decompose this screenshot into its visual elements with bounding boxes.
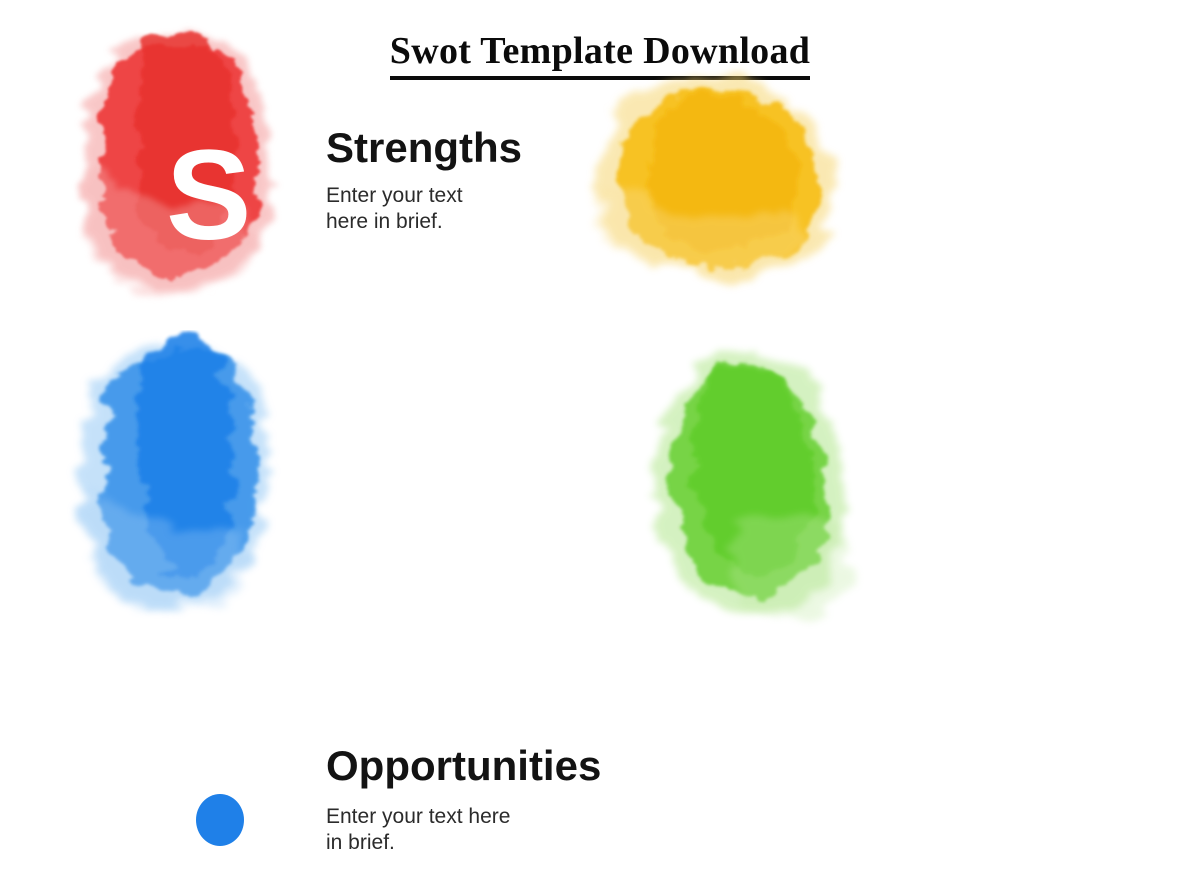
blue-watercolor-blob xyxy=(58,330,318,620)
strengths-heading: Strengths xyxy=(326,125,576,171)
quadrant-strengths[interactable]: S Strengths Enter your text here in brie… xyxy=(58,20,618,310)
letter-s: S xyxy=(166,132,251,260)
quadrant-opportunities[interactable]: Opportunities Enter your text here in br… xyxy=(58,330,618,620)
green-watercolor-blob xyxy=(630,330,880,630)
quadrant-threats[interactable]: T Threats Enter your text here in brief. xyxy=(630,330,1190,630)
quadrant-weaknesses[interactable]: W Weaknesses Enter your text here in bri… xyxy=(575,48,1195,298)
strengths-text-block: Strengths Enter your text here in brief. xyxy=(326,125,576,235)
opportunities-heading: Opportunities xyxy=(326,743,626,789)
opportunities-body: Enter your text here in brief. xyxy=(326,804,626,856)
letter-o xyxy=(164,764,276,876)
letter-o-inner xyxy=(196,794,244,846)
swot-slide: Swot Template Download xyxy=(0,0,1200,675)
opportunities-text-block: Opportunities Enter your text here in br… xyxy=(326,743,626,856)
strengths-body: Enter your text here in brief. xyxy=(326,183,576,235)
yellow-watercolor-blob xyxy=(575,48,855,298)
